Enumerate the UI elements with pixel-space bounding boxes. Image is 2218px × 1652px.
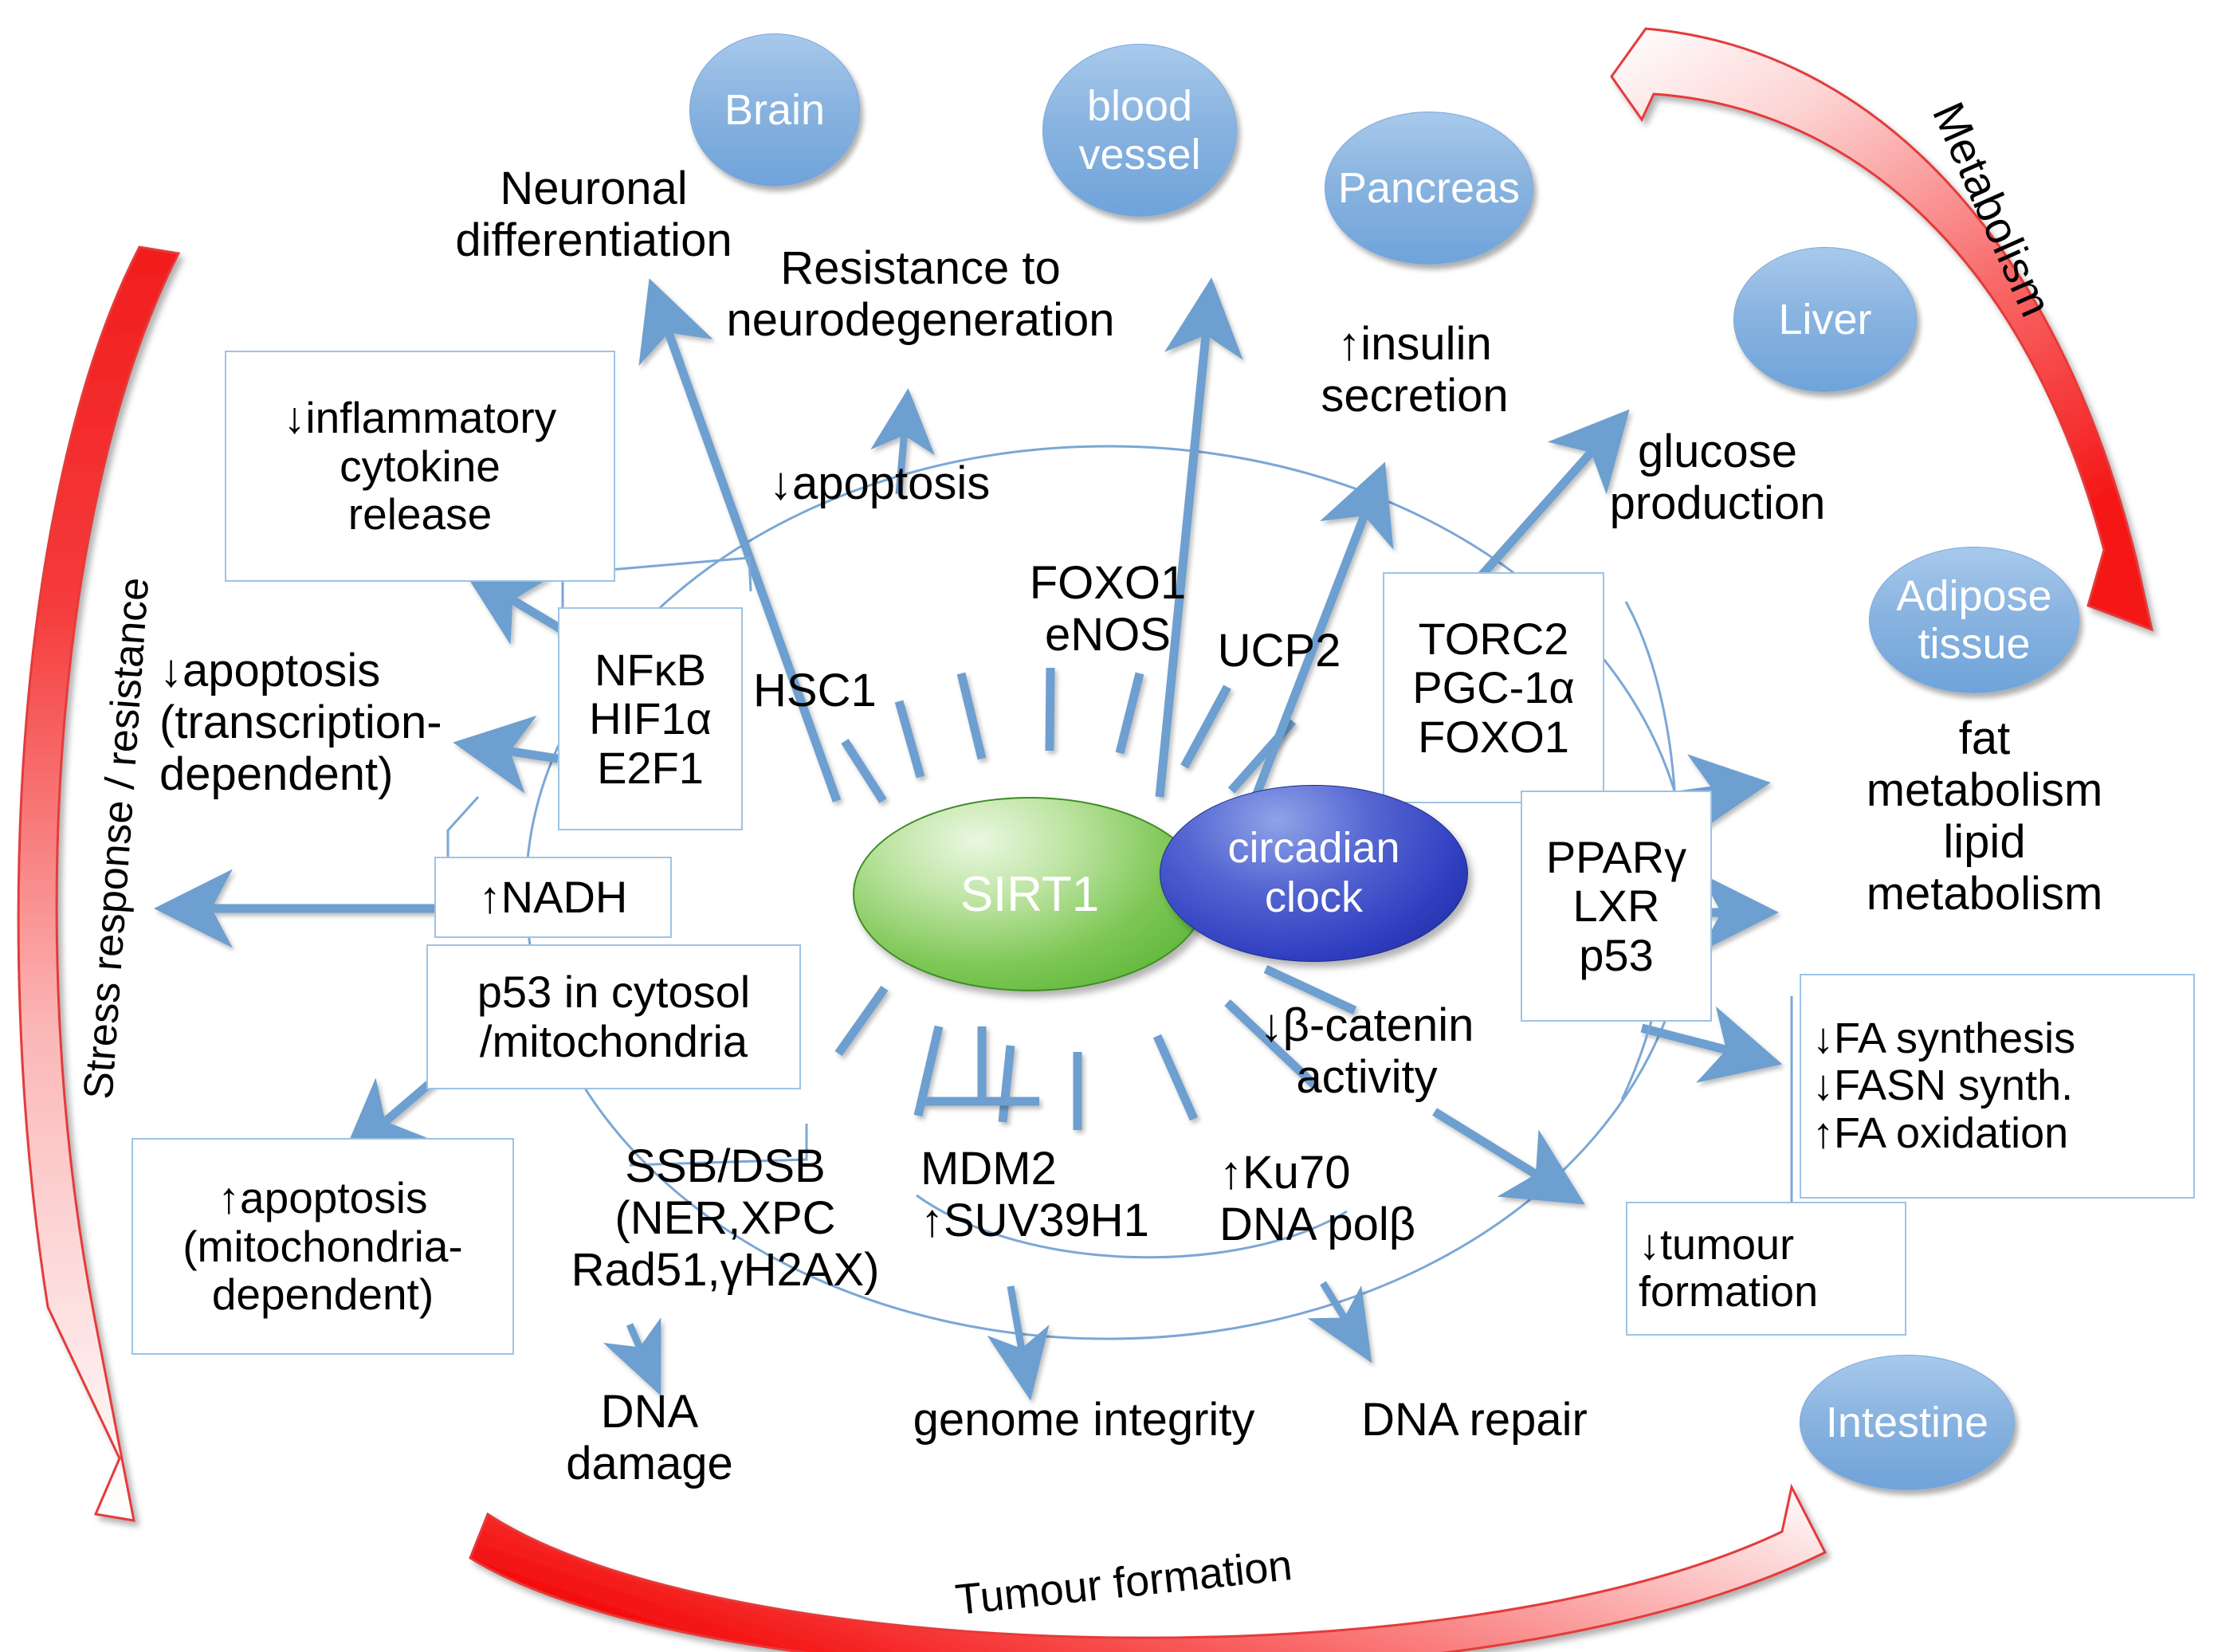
box-fa-metabolism-label: ↓FA synthesis ↓FASN synth. ↑FA oxidation [1812,1015,2075,1157]
label-fat-lipid-metabolism: fat metabolism lipid metabolism [1833,713,2136,920]
label-neuronal-differentiation: Neuronal differentiation [422,163,765,267]
label-foxo1-enos: FOXO1 eNOS [1016,558,1199,661]
label-glucose-production: glucose production [1586,426,1849,530]
box-apoptosis-mitochondria-label: ↑apoptosis (mitochondria- dependent) [183,1174,463,1319]
label-hsc1: HSC1 [753,665,936,717]
label-beta-catenin: ↓β-catenin activity [1227,1000,1506,1104]
label-resistance-neurodegeneration: Resistance to neurodegeneration [721,243,1120,347]
tissue-liver-label: Liver [1778,296,1871,343]
node-circadian-clock-label: circadian clock [1227,824,1399,922]
box-torc2-pgc1a-foxo1-label: TORC2 PGC-1α FOXO1 [1412,614,1575,762]
box-inflammatory-cytokine[interactable]: ↓inflammatory cytokine release [225,351,615,582]
box-nfkb-hif1a-e2f1-label: NFκB HIF1α E2F1 [589,645,712,793]
tissue-pancreas-label: Pancreas [1338,164,1520,212]
label-ucp2: UCP2 [1207,626,1351,677]
label-ssb-dsb: SSB/DSB (NER,XPC Rad51,γH2AX) [558,1141,893,1297]
label-dna-repair: DNA repair [1339,1395,1610,1446]
thin-blue-arrows [630,1283,1364,1387]
tissue-adipose[interactable]: Adipose tissue [1869,547,2079,693]
box-torc2-pgc1a-foxo1[interactable]: TORC2 PGC-1α FOXO1 [1383,572,1604,803]
box-fa-metabolism[interactable]: ↓FA synthesis ↓FASN synth. ↑FA oxidation [1800,974,2195,1199]
tissue-blood-vessel-label: blood vessel [1078,82,1200,179]
box-p53-cytosol[interactable]: p53 in cytosol /mitochondria [426,944,801,1089]
ribbon-label-stress-response: Stress response / resistance [74,605,156,1101]
label-apoptosis-down-left: ↓apoptosis (transcription- dependent) [159,645,494,801]
tissue-pancreas[interactable]: Pancreas [1325,112,1533,265]
box-pparg-lxr-p53-label: PPARγ LXR p53 [1546,833,1686,980]
box-apoptosis-mitochondria[interactable]: ↑apoptosis (mitochondria- dependent) [132,1138,514,1355]
node-sirt1-label: SIRT1 [960,866,1100,923]
label-ku70-dnapolb: ↑Ku70 DNA polβ [1219,1148,1482,1251]
tissue-blood-vessel[interactable]: blood vessel [1042,44,1237,217]
label-mdm2-suv39h1: MDM2 ↑SUV39H1 [921,1144,1184,1247]
box-inflammatory-cytokine-label: ↓inflammatory cytokine release [284,394,556,539]
tissue-adipose-label: Adipose tissue [1896,572,2051,669]
label-genome-integrity: genome integrity [889,1395,1279,1446]
inhibition-connector [924,1026,1039,1101]
box-pparg-lxr-p53[interactable]: PPARγ LXR p53 [1521,791,1712,1022]
label-insulin-secretion: ↑insulin secretion [1295,319,1534,422]
node-circadian-clock[interactable]: circadian clock [1160,785,1468,962]
box-nadh-label: ↑NADH [479,873,628,922]
box-tumour-formation[interactable]: ↓tumour formation [1626,1202,1906,1336]
tissue-brain-label: Brain [724,86,825,134]
tissue-liver[interactable]: Liver [1733,247,1917,392]
tissue-intestine-label: Intestine [1826,1399,1988,1446]
ribbon-label-metabolism: Metabolism [1898,38,2087,379]
tissue-intestine[interactable]: Intestine [1800,1355,2015,1490]
label-dna-damage: DNA damage [550,1387,749,1490]
box-tumour-formation-label: ↓tumour formation [1639,1222,1818,1316]
node-sirt1[interactable]: SIRT1 [853,797,1207,991]
ribbon-label-tumour-formation: Tumour formation [899,1535,1348,1630]
box-nfkb-hif1a-e2f1[interactable]: NFκB HIF1α E2F1 [558,607,743,830]
label-apoptosis-down-top: ↓apoptosis [769,458,1056,510]
diagram-canvas: Brain blood vessel Pancreas Liver Adipos… [0,0,2218,1652]
box-p53-cytosol-label: p53 in cytosol /mitochondria [477,967,750,1065]
box-nadh[interactable]: ↑NADH [434,857,672,938]
